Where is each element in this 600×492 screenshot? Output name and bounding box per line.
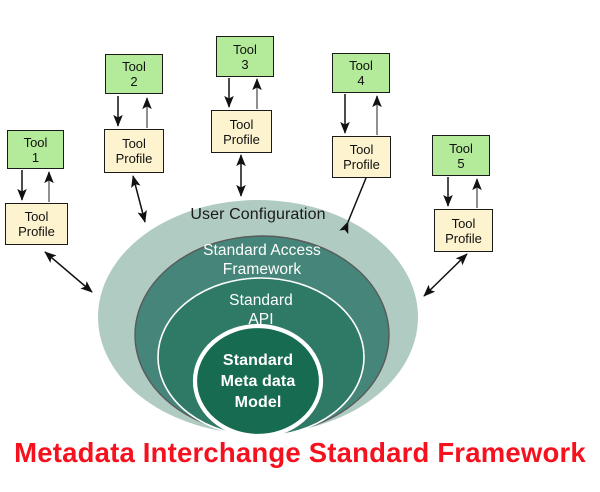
connector-profile-5-to-framework — [424, 254, 467, 296]
tool-1-label-line1: Tool — [24, 135, 48, 150]
tool-profile-4-box[interactable]: Tool Profile — [332, 136, 391, 178]
tool-profile-2-box[interactable]: Tool Profile — [104, 129, 164, 173]
layer-standard-metadata-model — [195, 326, 321, 436]
tool-5-label-line2: 5 — [457, 156, 464, 171]
tool-profile-5-label-line1: Tool — [452, 216, 476, 231]
tool-1-box[interactable]: Tool 1 — [7, 130, 64, 169]
diagram-canvas: Tool 1 Tool 2 Tool 3 Tool 4 Tool 5 Tool … — [0, 0, 600, 492]
tool-1-label-line2: 1 — [32, 150, 39, 165]
tool-profile-1-label-line1: Tool — [25, 209, 49, 224]
tool-profile-4-label-line1: Tool — [350, 142, 374, 157]
tool-profile-5-box[interactable]: Tool Profile — [434, 209, 493, 252]
tool-profile-5-label-line2: Profile — [445, 231, 482, 246]
tool-5-box[interactable]: Tool 5 — [432, 135, 490, 176]
tool-profile-2-label-line2: Profile — [116, 151, 153, 166]
concentric-layers — [98, 200, 418, 436]
connector-tool-3-to-profile — [229, 78, 257, 109]
connector-tool-2-to-profile — [118, 96, 147, 128]
tool-2-box[interactable]: Tool 2 — [105, 54, 163, 94]
tool-2-label-line1: Tool — [122, 59, 146, 74]
tool-profile-1-label-line2: Profile — [18, 224, 55, 239]
tool-profile-3-label-line2: Profile — [223, 132, 260, 147]
diagram-title: Metadata Interchange Standard Framework — [0, 437, 600, 469]
tool-4-label-line2: 4 — [357, 73, 364, 88]
tool-3-label-line1: Tool — [233, 42, 257, 57]
tool-5-label-line1: Tool — [449, 141, 473, 156]
connector-tool-5-to-profile — [448, 177, 477, 208]
tool-profile-3-box[interactable]: Tool Profile — [211, 110, 272, 153]
connector-tool-4-to-profile — [345, 94, 377, 135]
connector-profile-1-to-framework — [45, 252, 92, 292]
connector-profile-4-to-framework — [348, 178, 366, 222]
connector-tool-1-to-profile — [22, 170, 49, 202]
connector-profile-2-to-framework — [133, 176, 145, 222]
tool-2-label-line2: 2 — [130, 74, 137, 89]
tool-profile-3-label-line1: Tool — [230, 117, 254, 132]
tool-profile-2-label-line1: Tool — [122, 136, 146, 151]
tool-4-box[interactable]: Tool 4 — [332, 53, 390, 93]
tool-profile-4-label-line2: Profile — [343, 157, 380, 172]
tool-3-label-line2: 3 — [241, 57, 248, 72]
tool-3-box[interactable]: Tool 3 — [216, 36, 274, 77]
tool-profile-1-box[interactable]: Tool Profile — [5, 203, 68, 245]
tool-4-label-line1: Tool — [349, 58, 373, 73]
diagram-vector-layer — [0, 0, 600, 492]
